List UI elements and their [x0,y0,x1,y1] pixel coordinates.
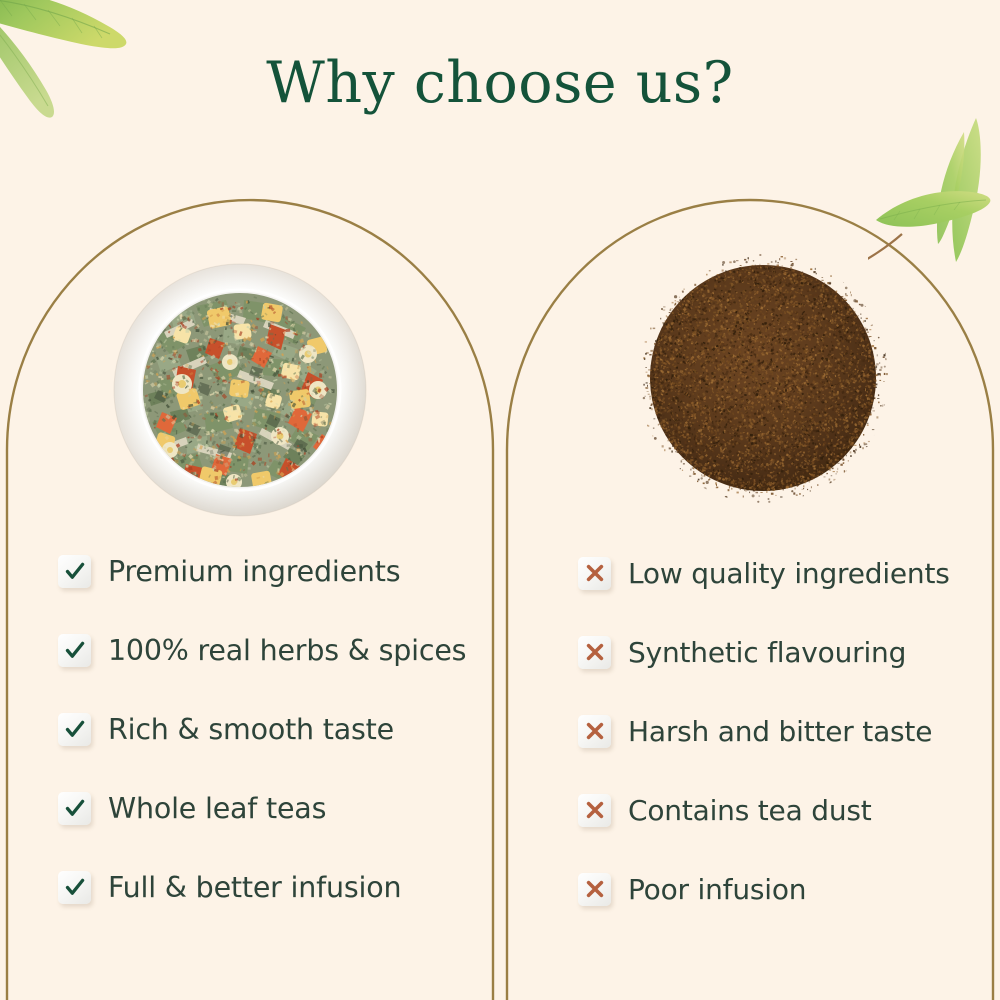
list-item-label: 100% real herbs & spices [108,634,466,667]
list-item: Low quality ingredients [578,551,978,595]
cross-icon [578,636,611,669]
list-item: Poor infusion [578,867,978,911]
list-item-label: Harsh and bitter taste [628,715,932,748]
list-item: Whole leaf teas [58,786,478,830]
cross-icon [578,557,611,590]
check-icon [58,634,91,667]
page-title: Why choose us? [0,55,1000,112]
tea-leaf-icon [868,112,1000,272]
product-photo-whole-leaf-tea [112,262,368,518]
list-item: 100% real herbs & spices [58,628,478,672]
check-icon [58,555,91,588]
list-item-label: Whole leaf teas [108,792,326,825]
cross-icon [578,794,611,827]
list-item-label: Low quality ingredients [628,557,950,590]
promo-canvas: Why choose us? Premium ingredients 100% … [0,0,1000,1000]
cross-icon [578,873,611,906]
drawbacks-list: Low quality ingredients Synthetic flavou… [578,551,978,946]
list-item-label: Premium ingredients [108,555,400,588]
list-item-label: Contains tea dust [628,794,872,827]
check-icon [58,792,91,825]
list-item: Synthetic flavouring [578,630,978,674]
list-item-label: Synthetic flavouring [628,636,906,669]
check-icon [58,713,91,746]
list-item: Full & better infusion [58,865,478,909]
list-item: Premium ingredients [58,549,478,593]
list-item-label: Poor infusion [628,873,806,906]
list-item-label: Rich & smooth taste [108,713,394,746]
check-icon [58,871,91,904]
benefits-list: Premium ingredients 100% real herbs & sp… [58,549,478,944]
list-item-label: Full & better infusion [108,871,401,904]
cross-icon [578,715,611,748]
product-photo-tea-dust [638,253,888,503]
list-item: Contains tea dust [578,788,978,832]
list-item: Rich & smooth taste [58,707,478,751]
list-item: Harsh and bitter taste [578,709,978,753]
